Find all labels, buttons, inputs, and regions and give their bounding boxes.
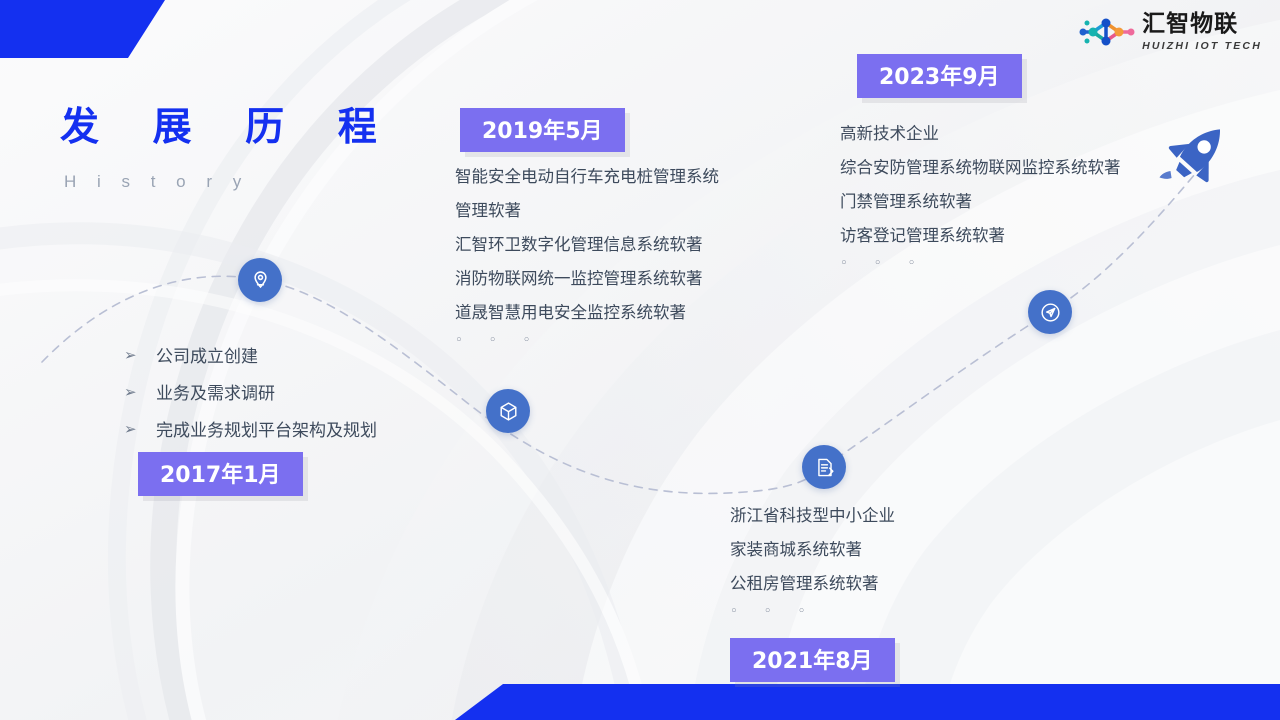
list-item: 门禁管理系统软著 <box>840 188 1121 212</box>
document-edit-icon <box>813 456 836 479</box>
list-item: 公租房管理系统软著 <box>730 570 895 594</box>
logo-name-en: HUIZHI IOT TECH <box>1142 41 1262 52</box>
location-pin-icon <box>249 269 272 292</box>
slide-root: 汇智物联 HUIZHI IOT TECH 发 展 历 程 H i s t o r… <box>0 0 1280 720</box>
list-item: 高新技术企业 <box>840 120 1121 144</box>
list-item-label: 完成业务规划平台架构及规划 <box>156 416 377 441</box>
ellipsis-marker: ◦ ◦ ◦ <box>455 333 719 348</box>
logo-name-cn: 汇智物联 <box>1142 13 1262 36</box>
page-subtitle: H i s t o r y <box>64 172 249 192</box>
list-item: 浙江省科技型中小企业 <box>730 502 895 526</box>
send-paper-plane-icon <box>1038 300 1063 325</box>
timeline-node-2019[interactable] <box>486 389 530 433</box>
corner-shape-bottom-right <box>455 684 1280 720</box>
timeline-node-2017[interactable] <box>238 258 282 302</box>
list-item: 道晟智慧用电安全监控系统软著 <box>455 299 719 323</box>
milestone-2023-items: 高新技术企业 综合安防管理系统物联网监控系统软著 门禁管理系统软著 访客登记管理… <box>840 120 1121 271</box>
date-badge-2021[interactable]: 2021年8月 <box>730 638 895 682</box>
date-badge-2023[interactable]: 2023年9月 <box>857 54 1022 98</box>
bullet-arrow-icon: ➢ <box>124 420 156 438</box>
milestone-2019-items: 智能安全电动自行车充电桩管理系统 管理软著 汇智环卫数字化管理信息系统软著 消防… <box>455 163 719 348</box>
list-item: 智能安全电动自行车充电桩管理系统 <box>455 163 719 187</box>
list-item: 综合安防管理系统物联网监控系统软著 <box>840 154 1121 178</box>
list-item: 消防物联网统一监控管理系统软著 <box>455 265 719 289</box>
date-badge-2017[interactable]: 2017年1月 <box>138 452 303 496</box>
company-logo: 汇智物联 HUIZHI IOT TECH <box>1078 12 1262 52</box>
timeline-node-2023[interactable] <box>1028 290 1072 334</box>
bullet-arrow-icon: ➢ <box>124 346 156 364</box>
list-item: ➢ 完成业务规划平台架构及规划 <box>124 416 377 441</box>
rocket-icon <box>1155 115 1237 197</box>
cube-box-icon <box>497 400 520 423</box>
bullet-arrow-icon: ➢ <box>124 383 156 401</box>
list-item: ➢ 业务及需求调研 <box>124 379 377 404</box>
date-badge-2019[interactable]: 2019年5月 <box>460 108 625 152</box>
ellipsis-marker: ◦ ◦ ◦ <box>840 256 1121 271</box>
molecule-network-icon <box>1078 12 1136 52</box>
list-item: 家装商城系统软著 <box>730 536 895 560</box>
list-item: 管理软著 <box>455 197 719 221</box>
list-item-label: 公司成立创建 <box>156 342 258 367</box>
list-item: 访客登记管理系统软著 <box>840 222 1121 246</box>
milestone-2017-items: ➢ 公司成立创建 ➢ 业务及需求调研 ➢ 完成业务规划平台架构及规划 <box>124 342 377 453</box>
ellipsis-marker: ◦ ◦ ◦ <box>730 604 895 619</box>
list-item: 汇智环卫数字化管理信息系统软著 <box>455 231 719 255</box>
page-title: 发 展 历 程 <box>60 96 397 152</box>
timeline-node-2021[interactable] <box>802 445 846 489</box>
list-item-label: 业务及需求调研 <box>156 379 275 404</box>
milestone-2021-items: 浙江省科技型中小企业 家装商城系统软著 公租房管理系统软著 ◦ ◦ ◦ <box>730 502 895 619</box>
list-item: ➢ 公司成立创建 <box>124 342 377 367</box>
